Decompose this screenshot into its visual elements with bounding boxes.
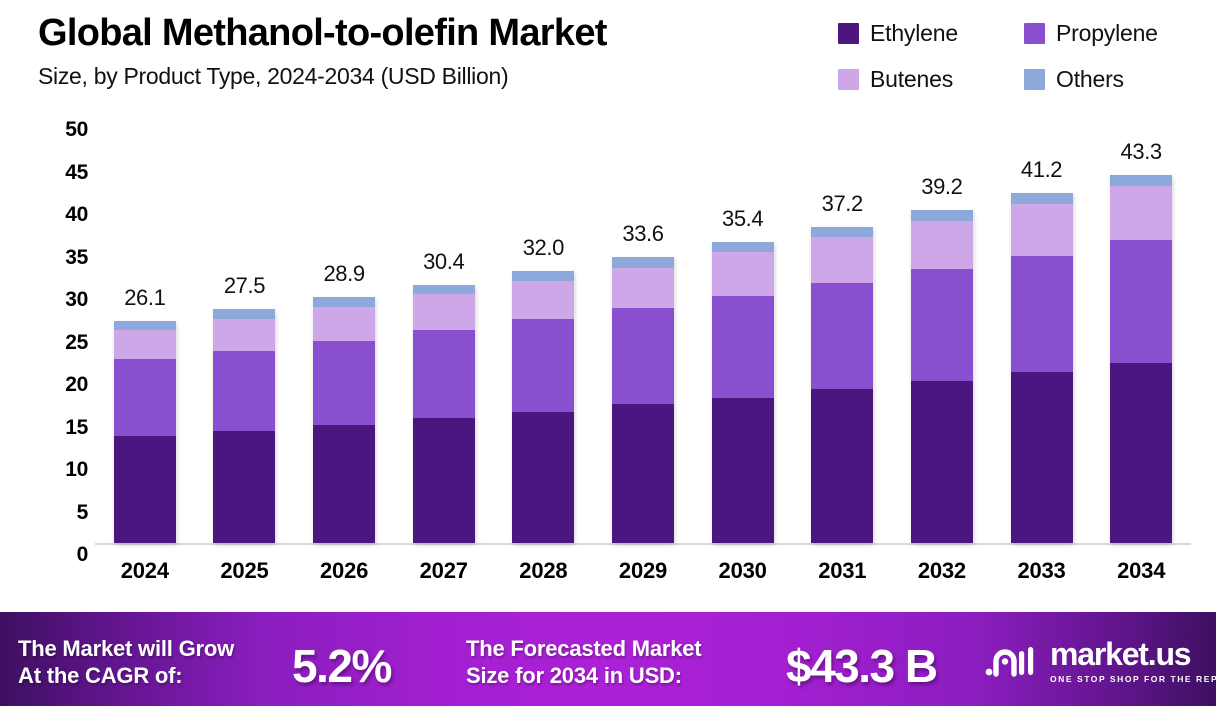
bar-segment-butenes[interactable]	[313, 307, 375, 341]
bar-segment-butenes[interactable]	[213, 319, 275, 351]
y-axis-tick-5: 5	[77, 501, 88, 525]
bar-total-label-2032: 39.2	[921, 174, 962, 200]
bar-total-label-2031: 37.2	[822, 191, 863, 217]
bar-segment-ethylene[interactable]	[1011, 372, 1073, 543]
forecast-size-label: The Forecasted Market Size for 2034 in U…	[466, 636, 701, 690]
cagr-label-line1: The Market will Grow	[18, 636, 234, 661]
bar-group-2032[interactable]: 39.2	[892, 118, 992, 543]
x-axis-tick-2032: 2032	[918, 558, 966, 584]
bar-segment-ethylene[interactable]	[313, 425, 375, 543]
bar-segment-ethylene[interactable]	[213, 431, 275, 543]
bar-group-2034[interactable]: 43.3	[1091, 118, 1191, 543]
stacked-bar[interactable]	[811, 227, 873, 543]
forecast-size-label-line1: The Forecasted Market	[466, 636, 701, 661]
x-axis-tick-2027: 2027	[420, 558, 468, 584]
bar-segment-others[interactable]	[1011, 193, 1073, 204]
stacked-bar[interactable]	[213, 309, 275, 543]
bar-segment-others[interactable]	[1110, 175, 1172, 186]
bar-segment-others[interactable]	[911, 210, 973, 221]
bar-segment-ethylene[interactable]	[413, 418, 475, 543]
y-axis-tick-10: 10	[65, 458, 88, 482]
bar-segment-propylene[interactable]	[712, 296, 774, 398]
bar-total-label-2025: 27.5	[224, 273, 265, 299]
bar-group-2027[interactable]: 30.4	[394, 118, 494, 543]
x-axis-tick-2024: 2024	[121, 558, 169, 584]
y-axis-tick-45: 45	[65, 161, 88, 185]
stacked-bar[interactable]	[512, 271, 574, 543]
bar-segment-others[interactable]	[612, 257, 674, 267]
stacked-bar[interactable]	[911, 210, 973, 543]
bar-segment-ethylene[interactable]	[811, 389, 873, 543]
bar-segment-propylene[interactable]	[114, 359, 176, 436]
bar-segment-propylene[interactable]	[911, 269, 973, 380]
bar-segment-others[interactable]	[114, 321, 176, 330]
bar-segment-others[interactable]	[213, 309, 275, 318]
bar-segment-propylene[interactable]	[213, 351, 275, 431]
stacked-bar[interactable]	[313, 297, 375, 543]
x-axis-tick-2030: 2030	[719, 558, 767, 584]
x-axis-tick-2026: 2026	[320, 558, 368, 584]
bar-total-label-2028: 32.0	[523, 235, 564, 261]
bar-segment-butenes[interactable]	[911, 221, 973, 269]
bar-segment-butenes[interactable]	[712, 252, 774, 295]
bar-segment-ethylene[interactable]	[512, 412, 574, 543]
bar-segment-propylene[interactable]	[612, 308, 674, 404]
bar-segment-others[interactable]	[811, 227, 873, 237]
bar-group-2030[interactable]: 35.4	[693, 118, 793, 543]
bar-group-2028[interactable]: 32.0	[494, 118, 594, 543]
logo-wordmark: market.us	[1050, 638, 1216, 670]
y-axis-tick-0: 0	[77, 543, 88, 567]
bar-segment-butenes[interactable]	[612, 268, 674, 309]
bar-segment-others[interactable]	[413, 285, 475, 294]
bar-total-label-2030: 35.4	[722, 206, 763, 232]
bar-segment-others[interactable]	[712, 242, 774, 252]
bar-segment-butenes[interactable]	[1011, 204, 1073, 256]
plot-area: 05101520253035404550 26.127.528.930.432.…	[0, 0, 1216, 600]
bar-series-container: 26.127.528.930.432.033.635.437.239.241.2…	[95, 118, 1191, 543]
bar-segment-ethylene[interactable]	[911, 381, 973, 543]
x-axis-tick-2034: 2034	[1117, 558, 1165, 584]
bar-segment-ethylene[interactable]	[712, 398, 774, 543]
bar-group-2026[interactable]: 28.9	[294, 118, 394, 543]
bar-total-label-2033: 41.2	[1021, 157, 1062, 183]
market-us-logo-icon	[982, 641, 1040, 681]
y-axis-tick-35: 35	[65, 246, 88, 270]
bar-segment-propylene[interactable]	[811, 283, 873, 389]
bar-segment-butenes[interactable]	[1110, 186, 1172, 240]
bar-group-2024[interactable]: 26.1	[95, 118, 195, 543]
x-axis-tick-2025: 2025	[220, 558, 268, 584]
y-axis-tick-20: 20	[65, 373, 88, 397]
bar-segment-propylene[interactable]	[1110, 240, 1172, 362]
bar-segment-ethylene[interactable]	[114, 436, 176, 543]
bar-group-2029[interactable]: 33.6	[593, 118, 693, 543]
bar-total-label-2024: 26.1	[124, 285, 165, 311]
footer-banner: The Market will Grow At the CAGR of: 5.2…	[0, 612, 1216, 706]
y-axis-tick-15: 15	[65, 416, 88, 440]
cagr-value: 5.2%	[292, 639, 391, 693]
bar-segment-butenes[interactable]	[512, 281, 574, 319]
bar-segment-butenes[interactable]	[811, 237, 873, 283]
x-axis-tick-2028: 2028	[519, 558, 567, 584]
stacked-bar[interactable]	[1011, 193, 1073, 543]
x-axis-tick-2033: 2033	[1017, 558, 1065, 584]
bar-group-2033[interactable]: 41.2	[992, 118, 1092, 543]
y-axis: 05101520253035404550	[36, 118, 88, 548]
stacked-bar[interactable]	[114, 321, 176, 543]
bar-segment-propylene[interactable]	[512, 319, 574, 412]
x-axis-line	[95, 543, 1191, 545]
x-axis: 2024202520262027202820292030203120322033…	[95, 558, 1191, 590]
y-axis-tick-30: 30	[65, 288, 88, 312]
x-axis-tick-2031: 2031	[818, 558, 866, 584]
bar-segment-others[interactable]	[313, 297, 375, 306]
market-us-logo[interactable]: market.us ONE STOP SHOP FOR THE REPORTS	[982, 638, 1216, 684]
bar-total-label-2034: 43.3	[1121, 139, 1162, 165]
bar-segment-ethylene[interactable]	[1110, 363, 1172, 543]
cagr-label-line2: At the CAGR of:	[18, 663, 182, 688]
y-axis-tick-40: 40	[65, 203, 88, 227]
bar-total-label-2029: 33.6	[622, 221, 663, 247]
bar-segment-butenes[interactable]	[413, 294, 475, 330]
y-axis-tick-50: 50	[65, 118, 88, 142]
y-axis-tick-25: 25	[65, 331, 88, 355]
stacked-bar[interactable]	[1110, 175, 1172, 543]
stacked-bar[interactable]	[612, 257, 674, 543]
bar-segment-others[interactable]	[512, 271, 574, 281]
bar-segment-butenes[interactable]	[114, 330, 176, 360]
bar-total-label-2027: 30.4	[423, 249, 464, 275]
logo-tagline: ONE STOP SHOP FOR THE REPORTS	[1050, 674, 1216, 684]
bar-segment-ethylene[interactable]	[612, 404, 674, 543]
logo-text-wrap: market.us ONE STOP SHOP FOR THE REPORTS	[1050, 638, 1216, 684]
stacked-bar[interactable]	[712, 242, 774, 543]
bar-total-label-2026: 28.9	[323, 261, 364, 287]
bar-segment-propylene[interactable]	[1011, 256, 1073, 372]
forecast-size-value: $43.3 B	[786, 639, 937, 693]
x-axis-tick-2029: 2029	[619, 558, 667, 584]
chart-infographic: Global Methanol-to-olefin Market Size, b…	[0, 0, 1216, 706]
stacked-bar[interactable]	[413, 285, 475, 543]
bar-segment-propylene[interactable]	[313, 341, 375, 425]
cagr-label: The Market will Grow At the CAGR of:	[18, 636, 234, 690]
bar-group-2031[interactable]: 37.2	[792, 118, 892, 543]
bar-group-2025[interactable]: 27.5	[195, 118, 295, 543]
forecast-size-label-line2: Size for 2034 in USD:	[466, 663, 682, 688]
bar-segment-propylene[interactable]	[413, 330, 475, 418]
